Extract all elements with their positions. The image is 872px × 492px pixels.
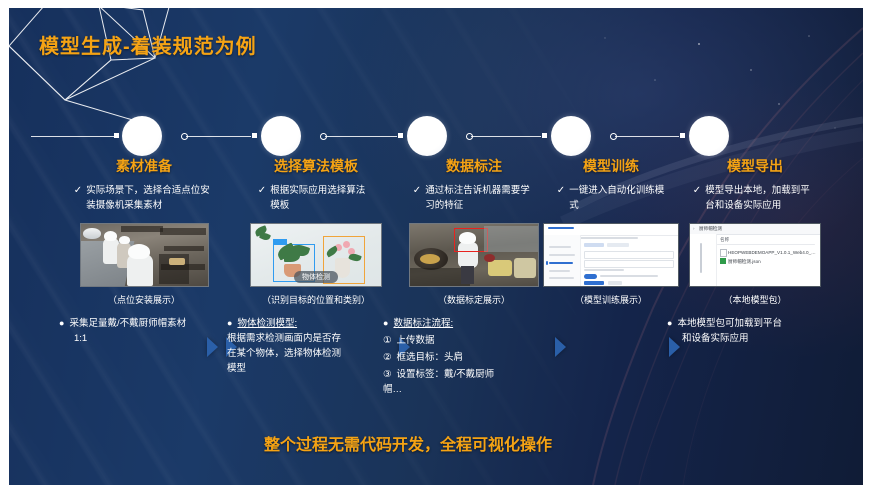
timeline-connector-4 bbox=[615, 136, 679, 137]
step-bullet-1-0: ● 采集足量戴/不戴厨师帽素材 bbox=[49, 316, 239, 331]
step-bullet-lead-3-0: 数据标注流程: bbox=[393, 316, 453, 331]
timeline-connector-0 bbox=[31, 136, 119, 137]
step-check-text-2: 根据实际应用选择算法模板 bbox=[270, 183, 374, 213]
step-check-text-3: 通过标注告诉机器需要学习的特征 bbox=[425, 183, 535, 213]
footer-note: 整个过程无需代码开发，全程可视化操作 bbox=[264, 434, 644, 458]
step-column-1: 素材准备 ✓ 实际场景下，选择合适点位安装摄像机采集素材 （点位安装展示） ● bbox=[49, 156, 239, 346]
image-tag-object-detection: 物体检测 bbox=[294, 271, 338, 283]
timeline-connector-1 bbox=[186, 136, 251, 137]
page-title: 模型生成-着装规范为例 bbox=[39, 30, 257, 59]
step-image-1 bbox=[80, 223, 209, 287]
step-caption-1: （点位安装展示） bbox=[49, 293, 239, 306]
step-bullet-3-2: ② 框选目标：头肩 bbox=[379, 350, 569, 365]
timeline-endpoint-square-3 bbox=[542, 133, 547, 138]
step-bullet-5-0: ● 本地模型包可加载到平台 bbox=[657, 316, 853, 331]
timeline-endpoint-square-1 bbox=[252, 133, 257, 138]
slide-canvas: 模型生成-着装规范为例 素材准备 ✓ 实际场景下，选择合适点位安装摄像机采集素材 bbox=[9, 8, 863, 485]
check-icon: ✓ bbox=[258, 183, 266, 213]
flow-arrow-icon-3 bbox=[555, 337, 566, 357]
step-image-2: 物体检测 bbox=[250, 223, 382, 287]
check-icon: ✓ bbox=[557, 183, 565, 213]
numbered-marker-3: ③ bbox=[383, 367, 392, 382]
timeline-node-2[interactable] bbox=[261, 116, 301, 156]
timeline-node-4[interactable] bbox=[551, 116, 591, 156]
timeline-connector-2 bbox=[325, 136, 397, 137]
step-title-5: 模型导出 bbox=[657, 156, 853, 176]
timeline-endpoint-square-4 bbox=[680, 133, 685, 138]
annotation-box-red bbox=[454, 228, 488, 252]
bullet-icon: ● bbox=[667, 316, 672, 331]
step-bullet-text-3-3: 设置标签：戴/不戴厨师 bbox=[397, 367, 495, 382]
timeline-endpoint-square-0 bbox=[114, 133, 119, 138]
step-caption-5: （本地模型包） bbox=[657, 293, 853, 306]
step-column-5: 模型导出 ✓ 模型导出本地，加载到平台和设备实际应用 厨师帽检测 › 名称 HE… bbox=[657, 156, 853, 346]
step-bullet-text-3-4: 帽… bbox=[379, 382, 569, 397]
flow-arrow-icon-2-in bbox=[207, 337, 218, 357]
step-check-text-1: 实际场景下，选择合适点位安装摄像机采集素材 bbox=[86, 183, 214, 213]
numbered-marker-2: ② bbox=[383, 350, 392, 365]
step-check-1: ✓ 实际场景下，选择合适点位安装摄像机采集素材 bbox=[49, 183, 239, 213]
step-image-3 bbox=[409, 223, 539, 287]
check-icon: ✓ bbox=[74, 183, 82, 213]
step-bullet-text-5-1: 和设备实际应用 bbox=[657, 331, 853, 346]
step-image-5: 厨师帽检测 › 名称 HEOPWEBDEMOAPP_V1.0.1_Web4.0_… bbox=[689, 223, 821, 287]
step-check-5: ✓ 模型导出本地，加载到平台和设备实际应用 bbox=[657, 183, 853, 213]
explorer-file-0[interactable]: HEOPWEBDEMOAPP_V1.0.1_Web4.0_… bbox=[728, 250, 816, 255]
timeline-node-1[interactable] bbox=[122, 116, 162, 156]
timeline-connector-3 bbox=[471, 136, 541, 137]
step-bullet-text-3-1: 上传数据 bbox=[397, 333, 435, 348]
step-check-text-5: 模型导出本地，加载到平台和设备实际应用 bbox=[705, 183, 817, 213]
bullet-icon: ● bbox=[227, 316, 232, 331]
bullet-icon: ● bbox=[383, 316, 388, 331]
step-bullet-lead-2-0: 物体检测模型: bbox=[237, 316, 297, 331]
numbered-marker-1: ① bbox=[383, 333, 392, 348]
step-title-1: 素材准备 bbox=[49, 156, 239, 176]
check-icon: ✓ bbox=[413, 183, 421, 213]
check-icon: ✓ bbox=[693, 183, 701, 213]
step-bullet-3-3: ③ 设置标签：戴/不戴厨师 bbox=[379, 367, 569, 382]
chevron-right-icon: › bbox=[693, 226, 695, 231]
step-bullet-3-0: ● 数据标注流程: bbox=[379, 316, 569, 331]
step-check-text-4: 一键进入自动化训练模式 bbox=[569, 183, 665, 213]
step-bullet-3-1: ① 上传数据 bbox=[379, 333, 569, 348]
timeline bbox=[9, 116, 863, 160]
explorer-breadcrumb: 厨师帽检测 bbox=[699, 226, 722, 232]
explorer-file-1[interactable]: 厨师帽检测.json bbox=[728, 259, 761, 265]
timeline-node-3[interactable] bbox=[407, 116, 447, 156]
step-bullet-text-1-0: 采集足量戴/不戴厨师帽素材 bbox=[69, 316, 186, 331]
explorer-column-header: 名称 bbox=[720, 237, 729, 243]
step-bullet-text-5-0: 本地模型包可加载到平台 bbox=[677, 316, 782, 331]
timeline-endpoint-square-2 bbox=[398, 133, 403, 138]
bullet-icon: ● bbox=[59, 316, 64, 331]
timeline-node-5[interactable] bbox=[689, 116, 729, 156]
step-bullet-text-3-2: 框选目标：头肩 bbox=[397, 350, 464, 365]
